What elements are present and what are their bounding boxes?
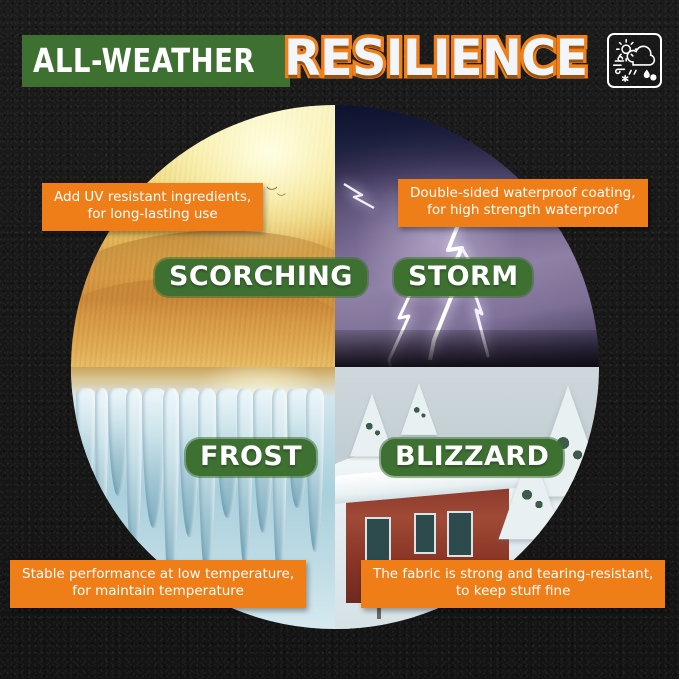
lightning-bolt-icon	[340, 178, 400, 228]
caption-frost-line2: for maintain temperature	[22, 583, 294, 600]
label-storm: STORM	[394, 259, 532, 296]
storm-treeline	[335, 330, 599, 367]
mixed-weather-icon	[607, 33, 662, 88]
snow-pine-tree	[401, 383, 437, 435]
bird-silhouette: ︶	[266, 184, 277, 200]
label-scorching: SCORCHING	[155, 259, 367, 296]
caption-frost: Stable performance at low temperature, f…	[10, 560, 306, 608]
caption-scorching-line2: for long-lasting use	[54, 206, 251, 223]
caption-blizzard-line2: to keep stuff fine	[373, 583, 653, 600]
cabin-window	[414, 513, 435, 554]
caption-storm-line2: for high strength waterproof	[410, 202, 636, 219]
header: ALL-WEATHER RESILIENCE	[22, 33, 662, 91]
all-weather-resilience-infographic: ALL-WEATHER RESILIENCE	[0, 0, 679, 679]
cabin-window	[365, 517, 391, 565]
bird-silhouette: ︶	[277, 191, 286, 204]
caption-scorching-line1: Add UV resistant ingredients,	[54, 189, 251, 205]
caption-scorching: Add UV resistant ingredients, for long-l…	[42, 183, 263, 231]
caption-frost-line1: Stable performance at low temperature,	[22, 566, 294, 582]
caption-blizzard: The fabric is strong and tearing-resista…	[361, 560, 665, 608]
quadrant-scorching: ︶ ︶	[71, 105, 335, 367]
cabin-window	[447, 511, 473, 557]
caption-storm: Double-sided waterproof coating, for hig…	[398, 179, 648, 227]
caption-storm-line1: Double-sided waterproof coating,	[410, 185, 636, 201]
quadrant-storm	[335, 105, 599, 367]
label-frost: FROST	[186, 439, 316, 476]
label-blizzard: BLIZZARD	[381, 439, 563, 476]
page-title-secondary: RESILIENCE	[284, 29, 588, 87]
page-title-primary: ALL-WEATHER	[33, 41, 255, 80]
caption-blizzard-line1: The fabric is strong and tearing-resista…	[373, 566, 653, 582]
